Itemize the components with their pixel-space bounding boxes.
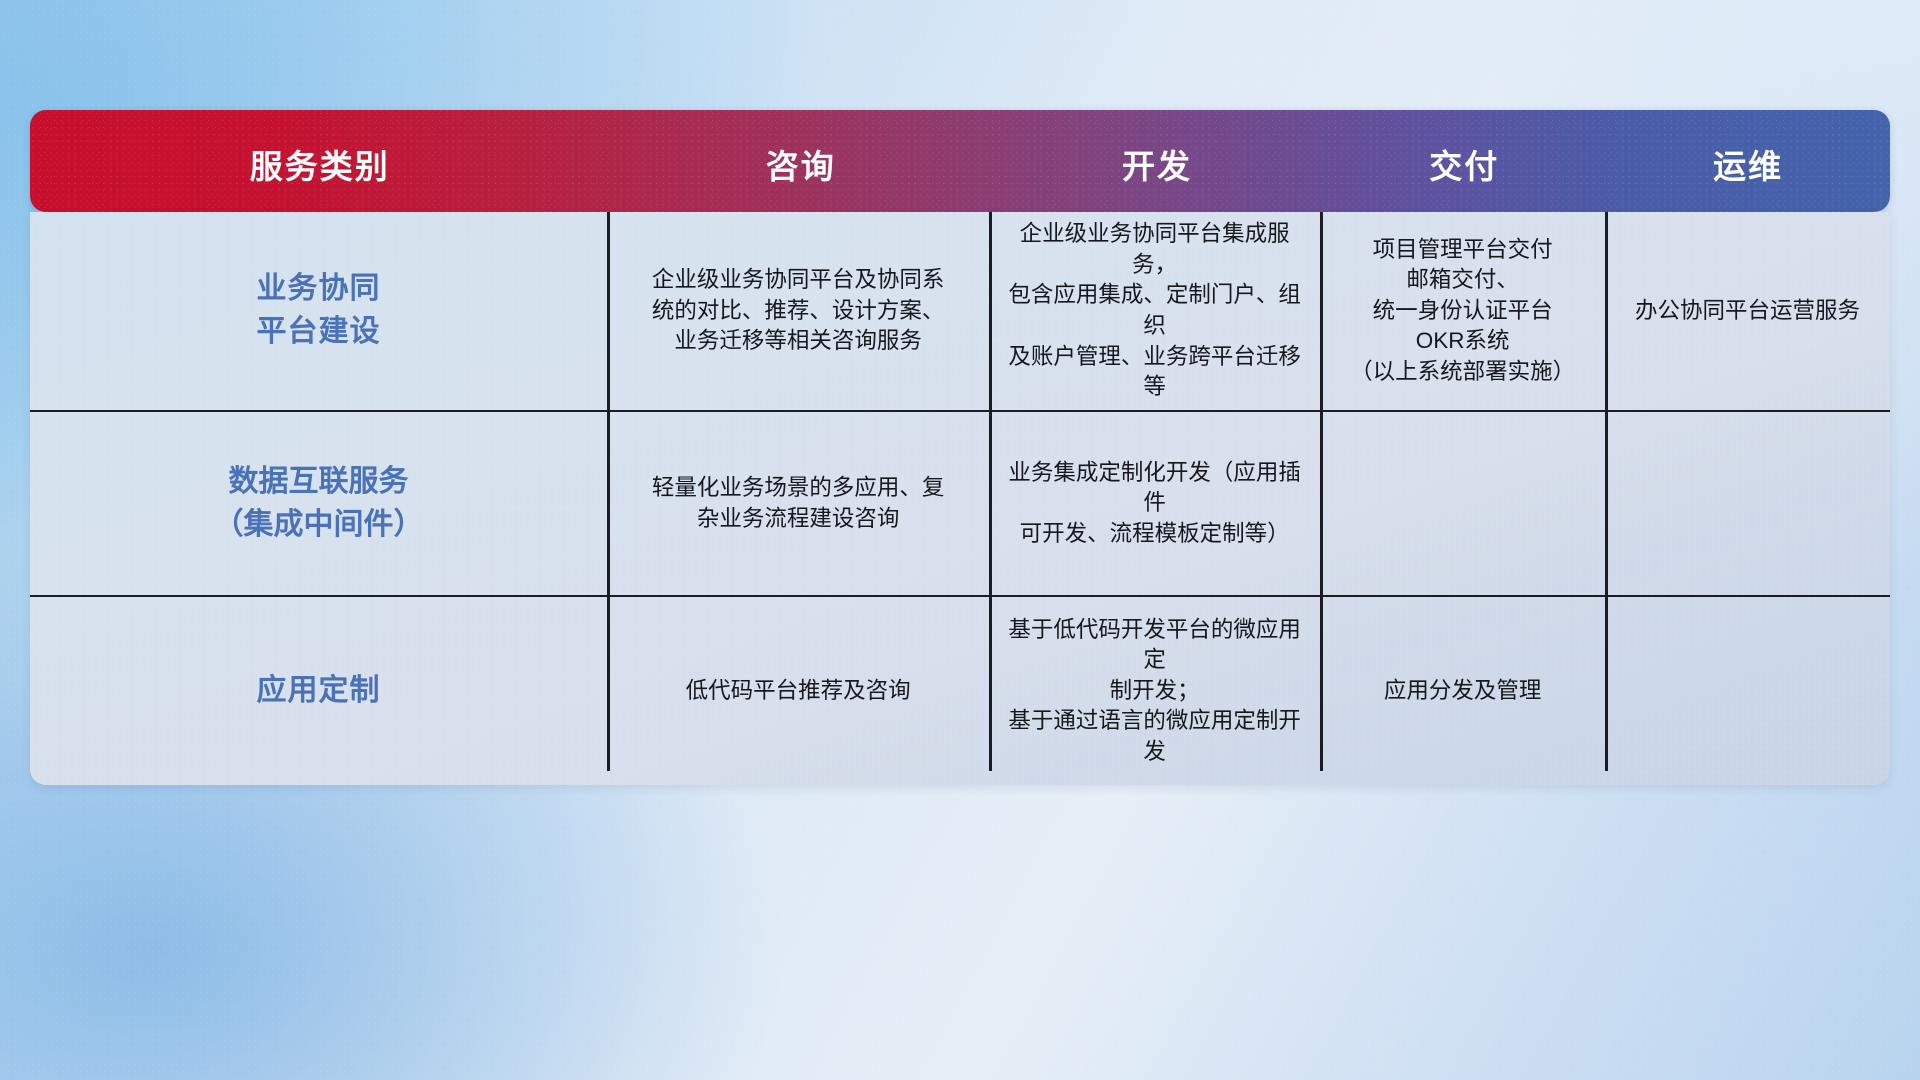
table-body: 业务协同 平台建设 企业级业务协同平台及协同系 统的对比、推荐、设计方案、 业务…: [30, 212, 1890, 785]
column-header-ops: 运维: [1606, 110, 1890, 212]
row-category-cell: 数据互联服务 （集成中间件）: [30, 412, 607, 595]
table-row: 数据互联服务 （集成中间件） 轻量化业务场景的多应用、复 杂业务流程建设咨询 业…: [30, 410, 1890, 595]
column-header-deliver: 交付: [1322, 110, 1606, 212]
cell-consult: 轻量化业务场景的多应用、复 杂业务流程建设咨询: [607, 412, 989, 595]
cell-deliver: 应用分发及管理: [1320, 597, 1605, 785]
cell-text: 业务集成定制化开发（应用插件 可开发、流程模板定制等）: [1003, 458, 1306, 550]
row-category-label: 数据互联服务 （集成中间件）: [214, 461, 424, 546]
table-row: 业务协同 平台建设 企业级业务协同平台及协同系 统的对比、推荐、设计方案、 业务…: [30, 212, 1890, 410]
slide-canvas: 服务类别 咨询 开发 交付 运维 业务协同 平台建设 企业级业务协同平台及协同系…: [0, 0, 1920, 1080]
cell-develop: 基于低代码开发平台的微应用定 制开发； 基于通过语言的微应用定制开发: [989, 597, 1320, 785]
row-category-cell: 应用定制: [30, 597, 607, 785]
cell-deliver: [1320, 412, 1605, 595]
cell-develop: 业务集成定制化开发（应用插件 可开发、流程模板定制等）: [989, 412, 1320, 595]
table-row: 应用定制 低代码平台推荐及咨询 基于低代码开发平台的微应用定 制开发； 基于通过…: [30, 595, 1890, 785]
cell-text: 应用分发及管理: [1384, 676, 1542, 707]
cell-consult: 企业级业务协同平台及协同系 统的对比、推荐、设计方案、 业务迁移等相关咨询服务: [607, 212, 989, 410]
cell-text: 轻量化业务场景的多应用、复 杂业务流程建设咨询: [652, 473, 945, 534]
cell-text: 企业级业务协同平台及协同系 统的对比、推荐、设计方案、 业务迁移等相关咨询服务: [652, 265, 945, 357]
row-category-label: 业务协同 平台建设: [257, 268, 381, 353]
cell-ops: [1605, 597, 1890, 785]
cell-develop: 企业级业务协同平台集成服务， 包含应用集成、定制门户、组织 及账户管理、业务跨平…: [989, 212, 1320, 410]
column-header-category: 服务类别: [30, 110, 610, 212]
cell-ops: 办公协同平台运营服务: [1605, 212, 1890, 410]
service-matrix-table: 服务类别 咨询 开发 交付 运维 业务协同 平台建设 企业级业务协同平台及协同系…: [30, 110, 1890, 785]
row-category-label: 应用定制: [257, 670, 381, 713]
column-header-develop: 开发: [992, 110, 1322, 212]
cell-text: 办公协同平台运营服务: [1635, 296, 1860, 327]
row-category-cell: 业务协同 平台建设: [30, 212, 607, 410]
cell-text: 基于低代码开发平台的微应用定 制开发； 基于通过语言的微应用定制开发: [1003, 615, 1306, 768]
cell-text: 项目管理平台交付 邮箱交付、 统一身份认证平台 OKR系统 （以上系统部署实施）: [1350, 235, 1575, 388]
cell-text: 企业级业务协同平台集成服务， 包含应用集成、定制门户、组织 及账户管理、业务跨平…: [1003, 219, 1306, 403]
cell-deliver: 项目管理平台交付 邮箱交付、 统一身份认证平台 OKR系统 （以上系统部署实施）: [1320, 212, 1605, 410]
cell-ops: [1605, 412, 1890, 595]
cell-consult: 低代码平台推荐及咨询: [607, 597, 989, 785]
cell-text: 低代码平台推荐及咨询: [686, 676, 911, 707]
table-header-row: 服务类别 咨询 开发 交付 运维: [30, 110, 1890, 212]
column-header-consult: 咨询: [610, 110, 992, 212]
